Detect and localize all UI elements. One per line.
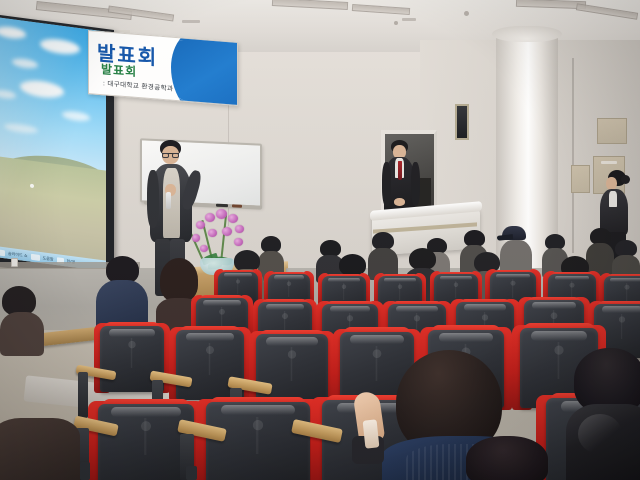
orchid-bloom-4	[228, 214, 238, 223]
seat-leg-row1-2	[186, 466, 197, 480]
seat-highlight	[440, 276, 472, 281]
ceiling-light-6	[576, 3, 638, 20]
seat-leg-row1-1	[80, 462, 90, 480]
orchid-bloom-7	[208, 229, 217, 237]
orchid-bloom-9	[234, 238, 243, 246]
taskbar-start-chip	[0, 248, 5, 256]
seat-highlight	[439, 333, 494, 342]
orchid-bloom-3	[216, 209, 227, 219]
host-arm-right	[411, 162, 420, 206]
seat-highlight	[496, 274, 529, 279]
raised-hand	[352, 392, 388, 464]
seat-highlight	[532, 302, 575, 309]
leather-sheen	[578, 414, 622, 454]
seat-highlight	[266, 304, 305, 310]
armpost-row2-1	[78, 372, 88, 418]
body	[0, 418, 80, 480]
ceiling-light-3	[272, 0, 348, 10]
wall-panel-3	[597, 118, 627, 144]
wall-seam-right	[572, 58, 574, 253]
glasses-lens-right	[172, 153, 179, 158]
seat-highlight	[274, 275, 304, 279]
seat-highlight	[266, 337, 318, 346]
wall-speaker-icon	[455, 104, 469, 140]
banner-swoosh-graphic	[171, 30, 238, 106]
audience-bottom-center	[466, 436, 548, 480]
seat-highlight	[610, 278, 640, 283]
photograph-auditorium-presentation: 슬라이드 쇼 도움말 한/영 발표회 발표회 : 대구대학교 환경공학과	[0, 0, 640, 480]
presenter-arm-left	[147, 170, 159, 228]
mobile-phone-icon	[363, 419, 380, 448]
audience-member-l3	[0, 286, 44, 356]
seat-highlight	[203, 300, 240, 306]
host-hands	[394, 198, 405, 206]
head-hair-long	[160, 258, 198, 302]
seat-highlight	[555, 276, 590, 281]
seat-highlight	[350, 335, 403, 344]
seat-highlight	[384, 278, 416, 283]
ceiling-light-4	[352, 4, 410, 15]
taskbar-chip-2	[31, 253, 40, 260]
staff-hair-knot	[621, 175, 630, 184]
staff-blouse	[609, 191, 617, 207]
ceiling-light-2	[108, 5, 174, 21]
seat-highlight	[186, 333, 235, 341]
seat-highlight	[109, 329, 155, 337]
ceiling-sensor-2	[464, 11, 469, 16]
glasses-lens-left	[162, 153, 169, 158]
seat-highlight	[224, 273, 253, 277]
orchid-bloom-2	[205, 213, 215, 222]
seat-highlight	[111, 407, 180, 417]
audience-bottom-left	[0, 418, 80, 480]
orchid-bloom-5	[235, 225, 244, 233]
power-outlet	[11, 258, 18, 267]
seat-highlight	[328, 278, 360, 283]
slide-ball	[30, 184, 34, 189]
orchid-bloom-10	[200, 245, 208, 252]
host-arm-left	[382, 162, 391, 206]
microphone-icon	[166, 192, 171, 209]
host-necktie	[398, 161, 402, 180]
head-hair	[409, 248, 436, 270]
ceiling-sensor-1	[394, 21, 398, 25]
orchid-bloom-8	[222, 227, 232, 236]
ceiling-vent-2	[402, 18, 416, 21]
wall-panel-1	[571, 165, 590, 193]
seat-highlight	[330, 306, 370, 312]
audience-leather-jacket	[566, 348, 640, 480]
wall-panel-label	[601, 161, 617, 164]
column-capital	[492, 26, 562, 42]
seat-highlight	[221, 405, 296, 415]
event-banner: 발표회 발표회 : 대구대학교 환경공학과	[88, 30, 238, 106]
ceiling-vent-1	[182, 20, 200, 23]
seat-highlight	[396, 306, 438, 312]
seat-highlight	[464, 304, 506, 310]
seat-highlight	[531, 331, 587, 341]
head-hair	[466, 436, 548, 480]
seat-highlight	[602, 306, 640, 312]
body	[0, 312, 44, 356]
